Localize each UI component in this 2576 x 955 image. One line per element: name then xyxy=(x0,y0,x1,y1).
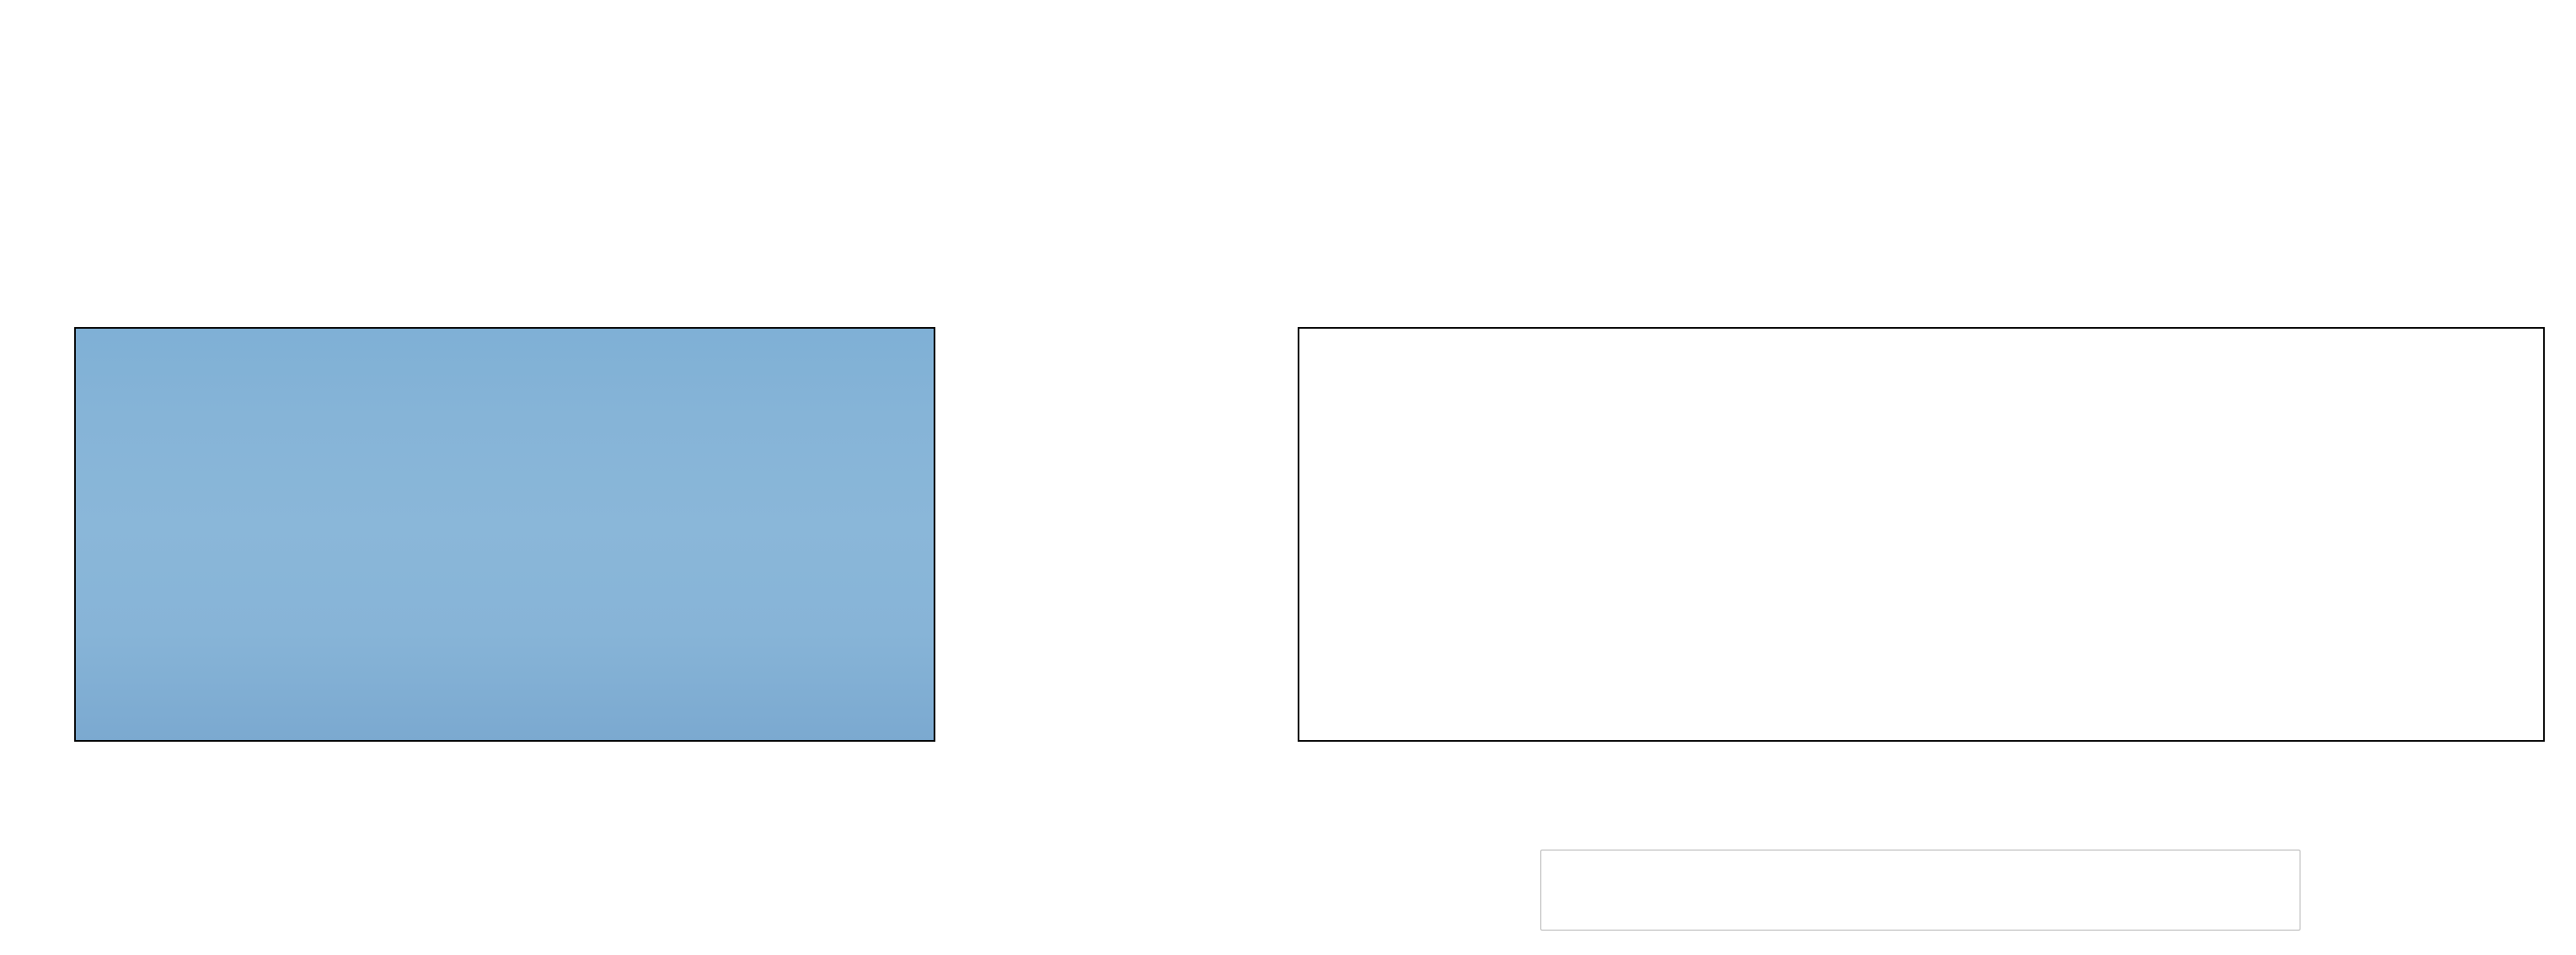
map-plot-area[interactable] xyxy=(74,327,935,742)
cross-section-panel xyxy=(1298,327,2545,742)
world-map-panel xyxy=(74,327,935,742)
ocean-background xyxy=(76,329,934,740)
cross-section-plot-area[interactable] xyxy=(1298,327,2545,742)
legend[interactable] xyxy=(1540,850,2300,931)
bathymetry-and-contours xyxy=(1299,329,2543,740)
